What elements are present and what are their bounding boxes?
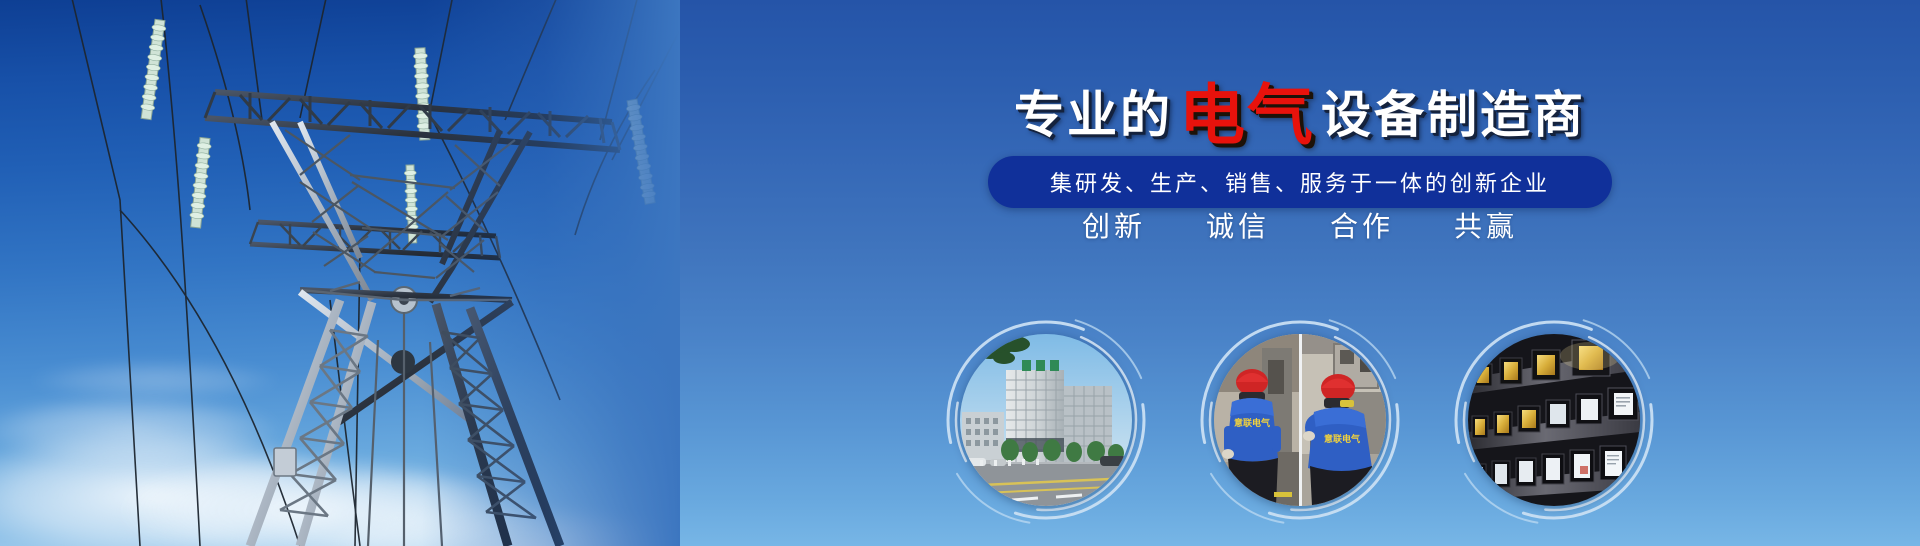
headline-part-1: 专业的 <box>1014 90 1173 140</box>
photo-circle-group: 意联电气 <box>680 320 1920 520</box>
keyword-list: 创新 诚信 合作 共赢 <box>680 205 1920 245</box>
subtitle-pill: 集研发、生产、销售、服务于一体的创新企业 <box>988 156 1612 208</box>
transmission-tower-photo <box>0 0 680 546</box>
keyword-item: 创新 <box>1082 205 1146 245</box>
certificate-wall-image <box>1468 334 1640 506</box>
photo-circle-certificates[interactable] <box>1454 320 1654 520</box>
photo-circle-office-building[interactable] <box>946 320 1146 520</box>
keyword-item: 诚信 <box>1206 205 1270 245</box>
office-building-image <box>960 334 1132 506</box>
banner-content: 专业的电气设备制造商 集研发、生产、销售、服务于一体的创新企业 创新 诚信 合作… <box>680 0 1920 546</box>
promotional-banner: 专业的电气设备制造商 集研发、生产、销售、服务于一体的创新企业 创新 诚信 合作… <box>0 0 1920 546</box>
keyword-item: 共赢 <box>1454 205 1518 245</box>
photo-circle-workers[interactable]: 意联电气 <box>1200 320 1400 520</box>
headline-part-2: 设备制造商 <box>1321 90 1586 140</box>
workers-image: 意联电气 <box>1214 334 1386 506</box>
page-title: 专业的电气设备制造商 <box>680 76 1920 142</box>
subtitle-text: 集研发、生产、销售、服务于一体的创新企业 <box>1050 166 1550 198</box>
keyword-item: 合作 <box>1330 205 1394 245</box>
svg-text:意联电气: 意联电气 <box>1234 417 1270 429</box>
pylon-structure-icon <box>0 0 680 546</box>
svg-text:意联电气: 意联电气 <box>1324 433 1360 445</box>
headline-highlight: 电气 <box>1179 82 1315 148</box>
